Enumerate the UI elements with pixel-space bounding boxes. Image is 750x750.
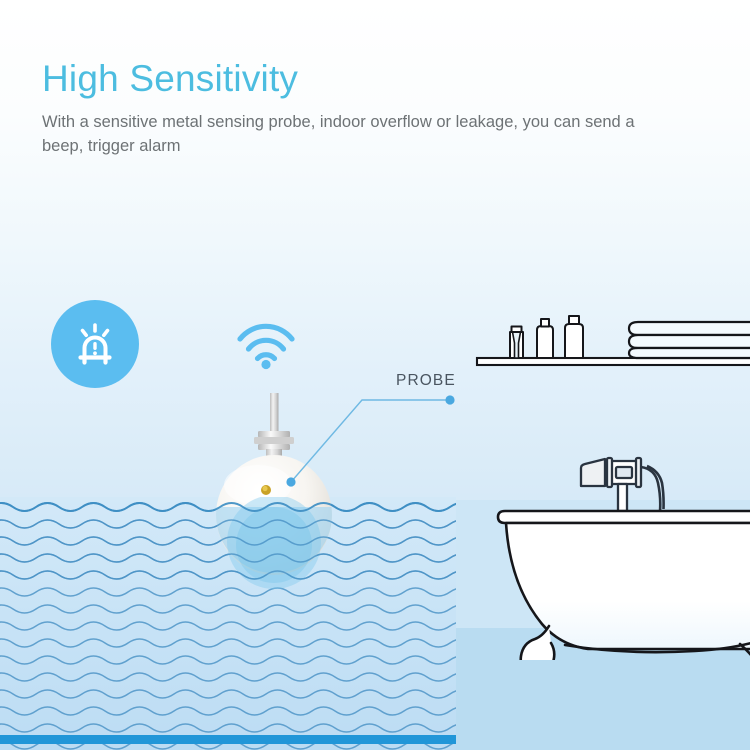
bathroom-scene [455, 300, 750, 660]
faucet [581, 458, 664, 511]
water-bottom-bar [0, 735, 456, 744]
header-block: High Sensitivity With a sensitive metal … [42, 58, 702, 158]
exclamation-mark-icon [93, 342, 97, 355]
product-feature-banner: High Sensitivity With a sensitive metal … [0, 0, 750, 750]
callout-anchor-dot [286, 477, 295, 486]
bathtub [498, 511, 750, 660]
page-title: High Sensitivity [42, 58, 702, 99]
callout-end-dot [445, 395, 454, 404]
page-subtitle: With a sensitive metal sensing probe, in… [42, 111, 672, 158]
towel-stack [629, 322, 750, 358]
wifi-dot-icon [261, 360, 270, 369]
bottle-1 [510, 327, 523, 359]
probe-label: PROBE [396, 372, 456, 390]
alarm-badge [51, 300, 139, 388]
alarm-siren-icon [67, 316, 123, 372]
bottle-2 [537, 319, 553, 358]
probe-callout-line [270, 380, 470, 500]
wifi-signal-icon [235, 320, 297, 370]
bottle-3 [565, 316, 583, 358]
